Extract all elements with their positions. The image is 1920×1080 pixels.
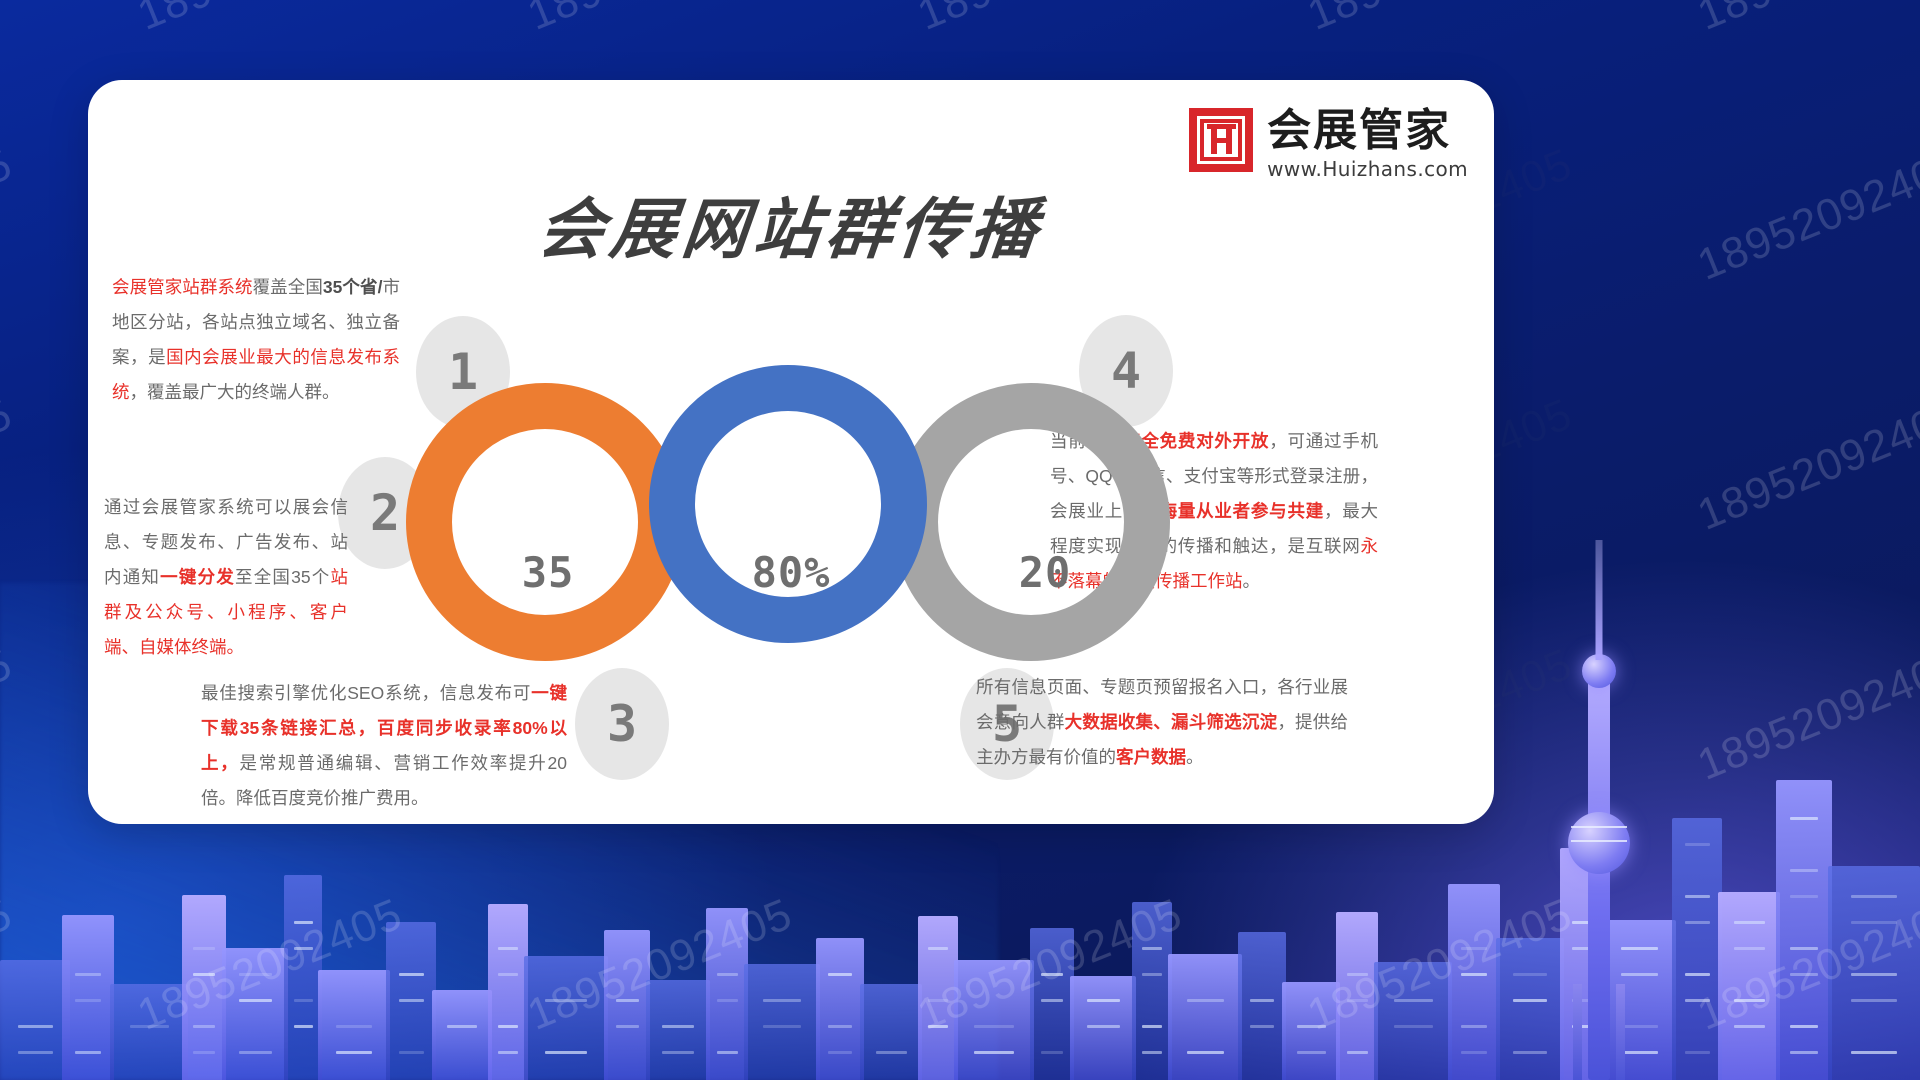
skyline-window [1142, 1025, 1162, 1028]
skyline-window [1734, 1025, 1765, 1028]
skyline-window [828, 1025, 852, 1028]
skyline-window [1461, 1051, 1487, 1054]
skyline-window [239, 1051, 272, 1054]
skyline-window [1513, 1051, 1547, 1054]
skyline-window [294, 999, 313, 1002]
skyline-window [239, 999, 272, 1002]
skyline-window [1734, 947, 1765, 950]
skyline-window [1461, 973, 1487, 976]
skyline-window [763, 1025, 801, 1028]
skyline-building [110, 984, 188, 1080]
skyline-window [545, 1051, 587, 1054]
skyline-window [1041, 1051, 1063, 1054]
skyline-window [1347, 999, 1368, 1002]
feature-text-3: 最佳搜索引擎优化SEO系统，信息发布可一键下载35条链接汇总，百度同步收录率80… [201, 676, 567, 816]
skyline-window [616, 999, 639, 1002]
skyline-window [447, 1025, 477, 1028]
skyline-window [545, 999, 587, 1002]
skyline-building [284, 875, 322, 1080]
skyline-window [18, 1025, 53, 1028]
ring-value-blue: 80% [736, 548, 846, 597]
skyline-building [222, 948, 288, 1080]
skyline-building [706, 908, 748, 1080]
skyline-window [1790, 817, 1818, 820]
tower-spire [1596, 540, 1603, 660]
skyline-window [239, 973, 272, 976]
skyline-building [954, 960, 1034, 1080]
skyline-window [1142, 973, 1162, 976]
skyline-window [1187, 999, 1224, 1002]
skyline-building [860, 984, 922, 1080]
skyline-window [336, 1051, 372, 1054]
skyline-window [294, 947, 313, 950]
skyline-window [193, 1051, 215, 1054]
skyline-window [1851, 973, 1897, 976]
skyline-building [0, 960, 70, 1080]
skyline-building [1238, 932, 1286, 1080]
skyline-window [1347, 973, 1368, 976]
skyline-window [1142, 947, 1162, 950]
skyline-window [974, 1051, 1014, 1054]
ring-blue [649, 365, 927, 643]
tower-sphere-large [1568, 812, 1630, 874]
skyline-building [646, 980, 710, 1080]
logo-brand-name: 会展管家 [1267, 108, 1468, 154]
skyline-window [1513, 973, 1547, 976]
skyline-window [1087, 1025, 1120, 1028]
skyline-window [75, 1051, 101, 1054]
interlocking-rings-diagram: 35 80% 20 [406, 335, 1166, 655]
ring-value-orange: 35 [518, 548, 578, 597]
skyline-window [336, 1025, 372, 1028]
skyline-window [928, 1025, 948, 1028]
pearl-tower-icon [1564, 520, 1634, 1080]
skyline-window [1790, 895, 1818, 898]
skyline-window [1297, 1051, 1326, 1054]
skyline-window [662, 1051, 694, 1054]
page-title: 会展网站群传播 [88, 176, 1494, 272]
skyline-building [604, 930, 650, 1080]
skyline-building [432, 990, 492, 1080]
skyline-window [616, 1025, 639, 1028]
ring-value-gray: 20 [1010, 548, 1080, 597]
skyline-building [1776, 780, 1832, 1080]
skyline-window [1461, 947, 1487, 950]
skyline-window [1685, 895, 1710, 898]
skyline-window [294, 921, 313, 924]
infographic-card: 会展管家 www.Huizhans.com 会展网站群传播 35 80% 20 … [88, 80, 1494, 824]
skyline-window [75, 999, 101, 1002]
skyline-window [498, 1025, 518, 1028]
skyline-building [1672, 818, 1722, 1080]
skyline-window [498, 973, 518, 976]
skyline-window [1790, 869, 1818, 872]
skyline-window [828, 1051, 852, 1054]
skyline-window [1394, 1025, 1433, 1028]
skyline-window [1851, 1051, 1897, 1054]
skyline-window [717, 1051, 738, 1054]
skyline-window [1790, 947, 1818, 950]
skyline-building [1496, 938, 1564, 1080]
skyline-window [1461, 1025, 1487, 1028]
skyline-window [1250, 1025, 1274, 1028]
skyline-window [717, 999, 738, 1002]
skyline-building [1168, 954, 1242, 1080]
skyline-window [1250, 999, 1274, 1002]
skyline-building [524, 956, 608, 1080]
skyline-window [1734, 999, 1765, 1002]
step-badge-3[interactable]: 3 [575, 668, 669, 780]
skyline-building [1282, 982, 1340, 1080]
skyline-window [974, 1025, 1014, 1028]
skyline-window [1394, 999, 1433, 1002]
feature-text-5: 所有信息页面、专题页预留报名入口，各行业展会意向人群大数据收集、漏斗筛选沉淀，提… [976, 670, 1348, 775]
skyline-building [1030, 928, 1074, 1080]
skyline-window [662, 1025, 694, 1028]
ring-gray [892, 383, 1170, 661]
skyline-window [1347, 1051, 1368, 1054]
skyline-window [928, 999, 948, 1002]
skyline-window [399, 1051, 424, 1054]
skyline-window [1685, 921, 1710, 924]
skyline-window [1734, 921, 1765, 924]
skyline-window [1685, 1051, 1710, 1054]
skyline-window [1513, 999, 1547, 1002]
skyline-window [1790, 973, 1818, 976]
skyline-window [399, 973, 424, 976]
skyline-window [1851, 895, 1897, 898]
feature-text-2: 通过会展管家系统可以展会信息、专题发布、广告发布、站内通知一键分发至全国35个站… [104, 490, 348, 665]
feature-text-1: 会展管家站群系统覆盖全国35个省/市地区分站，各站点独立域名、独立备案，是国内会… [112, 270, 400, 410]
skyline-window [1790, 1025, 1818, 1028]
skyline-building [1336, 912, 1378, 1080]
skyline-window [1685, 843, 1710, 846]
skyline-window [75, 973, 101, 976]
skyline-window [1142, 1051, 1162, 1054]
skyline-building [816, 938, 864, 1080]
skyline-window [498, 1051, 518, 1054]
skyline-building [1374, 962, 1452, 1080]
skyline-window [1187, 1051, 1224, 1054]
skyline-window [717, 973, 738, 976]
skyline-window [498, 947, 518, 950]
skyline-window [130, 1025, 169, 1028]
skyline-window [193, 973, 215, 976]
skyline-window [193, 947, 215, 950]
skyline-window [763, 999, 801, 1002]
skyline-window [1041, 973, 1063, 976]
skyline-window [1041, 999, 1063, 1002]
huizhans-mark-icon [1189, 108, 1253, 172]
skyline-window [1087, 999, 1120, 1002]
skyline-window [399, 999, 424, 1002]
skyline-window [1851, 921, 1897, 924]
skyline-building [62, 915, 114, 1080]
skyline-window [18, 1051, 53, 1054]
brand-logo[interactable]: 会展管家 www.Huizhans.com [1189, 108, 1468, 181]
skyline-window [1297, 1025, 1326, 1028]
skyline-building [1070, 976, 1136, 1080]
skyline-window [193, 1025, 215, 1028]
skyline-building [918, 916, 958, 1080]
skyline-window [1685, 999, 1710, 1002]
skyline-building [744, 964, 820, 1080]
skyline-window [928, 947, 948, 950]
ring-orange [406, 383, 684, 661]
skyline-window [876, 1051, 907, 1054]
skyline-window [1851, 999, 1897, 1002]
skyline-window [1685, 973, 1710, 976]
skyline-window [828, 973, 852, 976]
skyline-window [1790, 1051, 1818, 1054]
skyline-window [294, 1025, 313, 1028]
